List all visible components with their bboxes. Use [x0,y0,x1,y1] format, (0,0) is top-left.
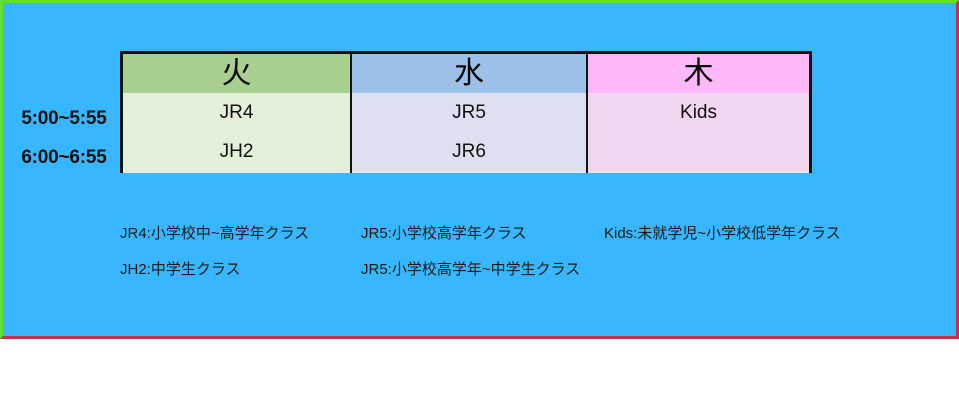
time-slot-label: 6:00~6:55 [9,138,119,177]
day-header-thursday: 木 [588,51,809,93]
day-column-thursday: 木 Kids [588,51,812,173]
day-header-tuesday: 火 [123,51,350,93]
schedule-grid: 火 JR4 JH2 水 JR5 JR6 木 Kids [120,51,814,173]
day-body-wednesday: JR5 JR6 [352,93,586,173]
legend-row: JH2:中学生クラス JR5:小学校高学年~中学生クラス [120,252,920,288]
class-legend: JR4:小学校中~高学年クラス JR5:小学校高学年クラス Kids:未就学児~… [120,216,920,288]
time-column: 5:00~5:55 6:00~6:55 [9,99,119,177]
class-cell[interactable]: JR5 [352,93,586,132]
day-body-thursday: Kids [588,93,809,173]
legend-entry: Kids:未就学児~小学校低学年クラス [604,216,841,252]
day-column-wednesday: 水 JR5 JR6 [352,51,588,173]
day-header-wednesday: 水 [352,51,586,93]
legend-entry: JH2:中学生クラス [120,252,241,288]
time-slot-label: 5:00~5:55 [9,99,119,138]
class-cell[interactable]: JH2 [123,132,350,171]
legend-entry: JR5:小学校高学年クラス [361,216,527,252]
day-column-tuesday: 火 JR4 JH2 [120,51,352,173]
legend-entry: JR5:小学校高学年~中学生クラス [361,252,580,288]
schedule-panel: 5:00~5:55 6:00~6:55 火 JR4 JH2 水 JR5 JR6 … [0,0,959,339]
day-body-tuesday: JR4 JH2 [123,93,350,173]
legend-row: JR4:小学校中~高学年クラス JR5:小学校高学年クラス Kids:未就学児~… [120,216,920,252]
class-cell[interactable]: JR4 [123,93,350,132]
class-cell-empty[interactable] [588,132,809,171]
class-cell[interactable]: Kids [588,93,809,132]
class-cell[interactable]: JR6 [352,132,586,171]
legend-entry: JR4:小学校中~高学年クラス [120,216,309,252]
